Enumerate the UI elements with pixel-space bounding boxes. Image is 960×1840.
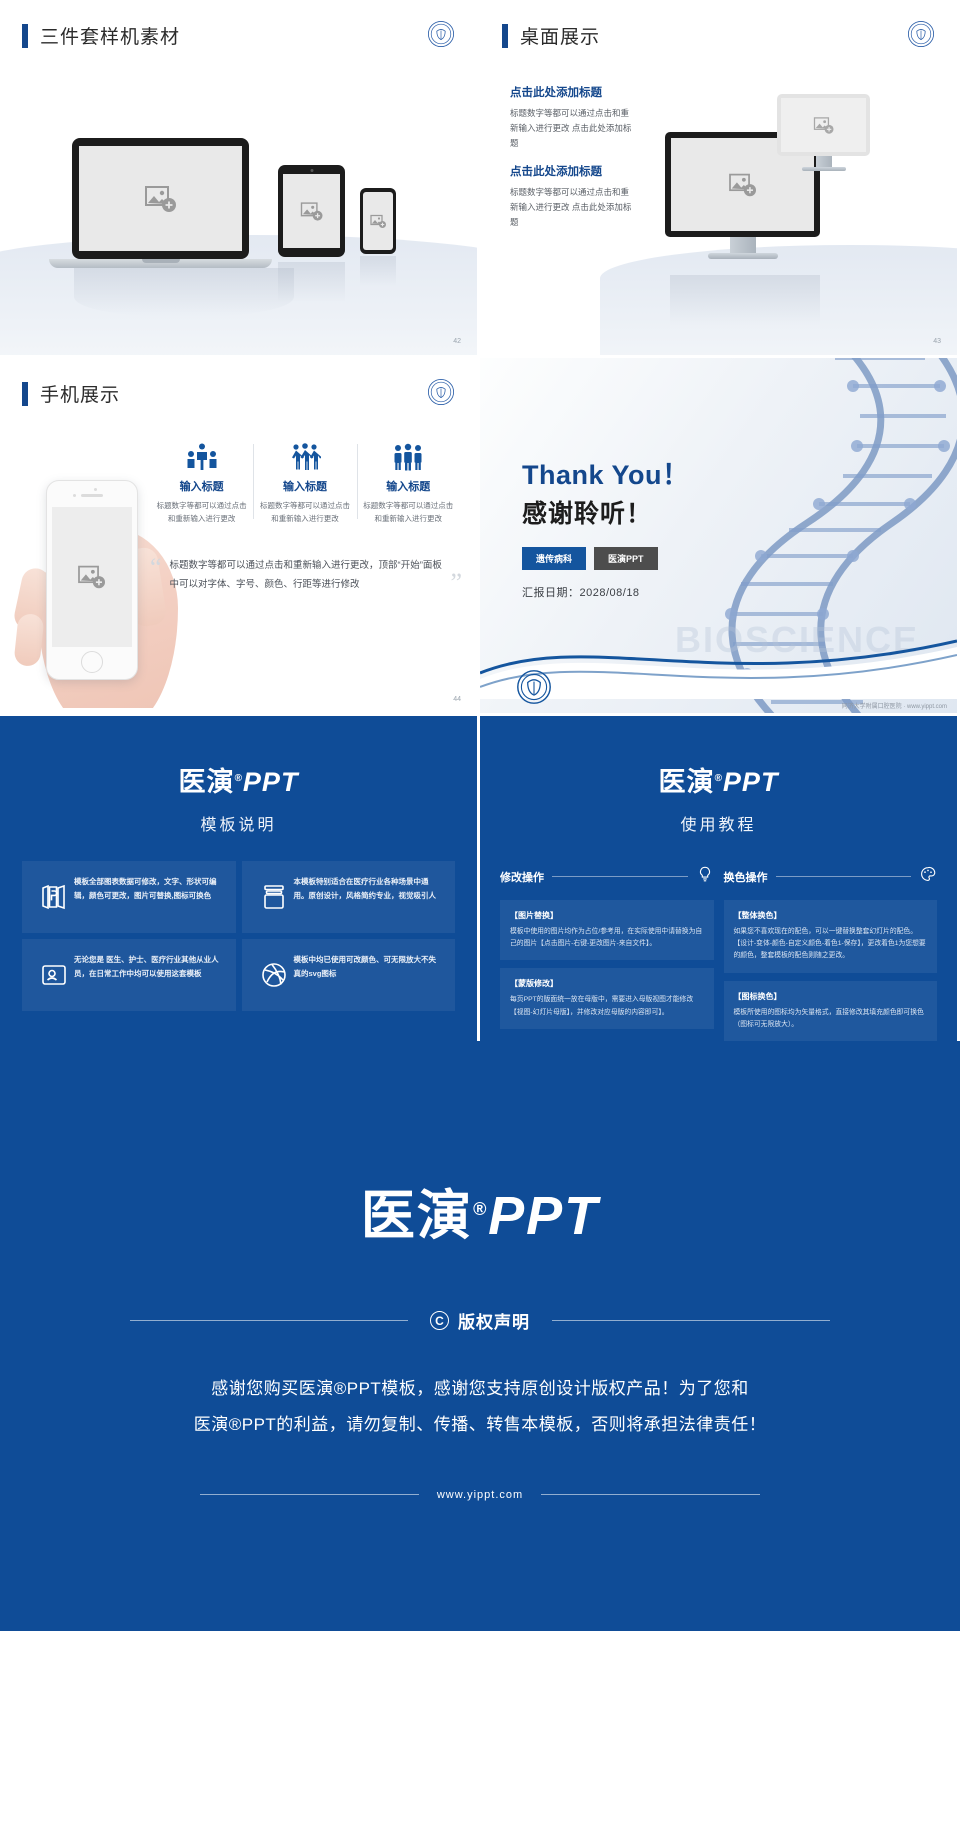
- phone-screen-placeholder: [363, 192, 393, 250]
- copyright-badge: C 版权声明: [430, 1308, 530, 1333]
- home-button: [81, 651, 103, 673]
- quote-close-icon: ”: [450, 571, 462, 594]
- divider: [776, 876, 912, 877]
- palette-icon: [919, 865, 937, 888]
- box-icon: [254, 875, 294, 919]
- feature-item[interactable]: 输入标题 标题数字等都可以通过点击和重新输入进行更改: [357, 438, 460, 525]
- logo-english: PPT: [488, 1186, 599, 1246]
- copyright-line-2: 医演®PPT的利益，请勿复制、传播、转售本模板，否则将承担法律责任！: [110, 1407, 850, 1443]
- tutorial-box-body: 模板中使用的图片均作为占位/参考用，在实际使用中请替换为自己的图片【点击图片-右…: [510, 926, 704, 950]
- title-accent-bar: [502, 24, 508, 48]
- front-camera-icon: [73, 494, 76, 497]
- feature-card[interactable]: 模板全部图表数据可修改，文字、形状可编辑，颜色可更改，图片可替换,图标可换色: [22, 861, 236, 933]
- tutorial-columns: 修改操作 【图片替换】 模板中使用的图片均作为占位/参考用，在实际使用中请替换为…: [480, 835, 957, 1049]
- laptop-mockup: [72, 138, 272, 268]
- department-tag[interactable]: 遗传病科: [522, 547, 586, 570]
- feature-card[interactable]: 无论您是 医生、护士、医疗行业其他从业人员，在日常工作中均可以使用这套模板: [22, 939, 236, 1011]
- laptop-screen-placeholder: [79, 146, 242, 251]
- copyright-badge-row: C 版权声明: [130, 1308, 830, 1333]
- divider-left: [200, 1494, 419, 1495]
- monitor-foot: [708, 253, 778, 259]
- quote-block: “ 标题数字等都可以通过点击和重新输入进行更改，顶部“开始”面板中可以对字体、字…: [150, 556, 462, 594]
- tag-row: 遗传病科 医演PPT: [522, 547, 690, 570]
- laptop-base: [49, 259, 272, 268]
- slide-header: 桌面展示: [502, 22, 600, 49]
- feature-body: 标题数字等都可以通过点击和重新输入进行更改: [156, 499, 247, 525]
- page-title: 手机展示: [40, 380, 120, 407]
- tutorial-box-body: 模板所使用的图标均为矢量格式，直接修改其填充颜色即可换色（图标可无限放大）。: [734, 1007, 928, 1031]
- slide-thank-you[interactable]: BIOSCIENCE Thank You！ 感谢聆听！ 遗传病科 医演PPT 汇…: [480, 358, 957, 713]
- block-heading: 点击此处添加标题: [510, 163, 635, 179]
- page-title: 桌面展示: [520, 22, 600, 49]
- report-date: 汇报日期：2028/08/18: [522, 584, 690, 600]
- copyright-body: 感谢您购买医演®PPT模板，感谢您支持原创设计版权产品！为了您和 医演®PPT的…: [110, 1371, 850, 1442]
- title-accent-bar: [22, 24, 28, 48]
- iphone-mockup: [46, 480, 138, 680]
- slide-number: 44: [453, 696, 461, 703]
- panel-usage-tutorial[interactable]: 医演®PPT 使用教程 修改操作: [480, 716, 957, 1041]
- people-group-icon: [259, 438, 350, 472]
- finger-2: [13, 613, 44, 667]
- block-body: 标题数字等都可以通过点击和重新输入进行更改 点击此处添加标题: [510, 106, 635, 151]
- copyright-badge-label: 版权声明: [458, 1308, 530, 1333]
- dribbble-icon: [254, 953, 294, 997]
- monitor-neck: [816, 156, 832, 167]
- logo-chinese: 医演: [659, 767, 715, 797]
- tutorial-box-heading: 【图片替换】: [510, 910, 704, 921]
- ppt-preview-page: 三件套样机素材: [0, 0, 960, 1631]
- blue-panel-row: 医演®PPT 模板说明 模板全部图表数据可修改，文字、形状可编辑，颜色可更改，图…: [0, 716, 960, 1041]
- team-meeting-icon: [156, 438, 247, 472]
- school-seal-icon: [427, 378, 455, 406]
- tablet-screen-placeholder: [283, 174, 340, 248]
- panel-subtitle: 模板说明: [0, 811, 477, 835]
- block-heading: 点击此处添加标题: [510, 84, 635, 100]
- school-seal-icon: [907, 20, 935, 48]
- divider-left: [130, 1320, 408, 1321]
- brand-logo: 医演®PPT: [0, 716, 477, 799]
- feature-row: 输入标题 标题数字等都可以通过点击和重新输入进行更改: [150, 438, 460, 525]
- school-seal-icon: [427, 20, 455, 48]
- logo-chinese: 医演: [179, 767, 235, 797]
- brand-logo-large: 医演®PPT: [361, 1171, 599, 1250]
- slide-header: 手机展示: [22, 380, 120, 407]
- slide-three-device-mockup[interactable]: 三件套样机素材: [0, 0, 477, 355]
- tutorial-box-body: 如果您不喜欢现在的配色，可以一键替换整套幻灯片的配色。【设计-变体-颜色-自定义…: [734, 926, 928, 963]
- feature-card-text: 模板全部图表数据可修改，文字、形状可编辑，颜色可更改，图片可替换,图标可换色: [74, 875, 224, 919]
- tutorial-box-heading: 【图标换色】: [734, 991, 928, 1002]
- tutorial-box-heading: 【整体换色】: [734, 910, 928, 921]
- divider-right: [552, 1320, 830, 1321]
- lightbulb-icon: [696, 865, 714, 888]
- tutorial-box-heading: 【蒙版修改】: [510, 978, 704, 989]
- tutorial-column-title: 修改操作: [500, 869, 544, 885]
- monitor-panel: [777, 94, 870, 156]
- layers-edit-icon: [34, 875, 74, 919]
- panel-template-description[interactable]: 医演®PPT 模板说明 模板全部图表数据可修改，文字、形状可编辑，颜色可更改，图…: [0, 716, 477, 1041]
- desktop-text-block-1: 点击此处添加标题 标题数字等都可以通过点击和重新输入进行更改 点击此处添加标题: [510, 84, 635, 151]
- slide-number: 43: [933, 338, 941, 345]
- monitor-foot: [802, 167, 846, 171]
- feature-body: 标题数字等都可以通过点击和重新输入进行更改: [259, 499, 350, 525]
- three-people-icon: [363, 438, 454, 472]
- thankyou-background: BIOSCIENCE Thank You！ 感谢聆听！ 遗传病科 医演PPT 汇…: [480, 358, 957, 713]
- brand-tag[interactable]: 医演PPT: [594, 547, 658, 570]
- desktop-text-block-2: 点击此处添加标题 标题数字等都可以通过点击和重新输入进行更改 点击此处添加标题: [510, 163, 635, 230]
- feature-card[interactable]: 模板中均已使用可改颜色、可无限放大不失真的svg图标: [242, 939, 456, 1011]
- school-seal-icon: [516, 669, 552, 705]
- copyright-icon: C: [430, 1311, 449, 1330]
- copyright-panel: 医演®PPT C 版权声明 感谢您购买医演®PPT模板，感谢您支持原创设计版权产…: [0, 1041, 960, 1631]
- slide-grid: 三件套样机素材: [0, 0, 960, 716]
- title-accent-bar: [22, 382, 28, 406]
- monitor-screen-placeholder: [781, 98, 866, 152]
- feature-body: 标题数字等都可以通过点击和重新输入进行更改: [363, 499, 454, 525]
- panel-subtitle: 使用教程: [480, 811, 957, 835]
- feature-item[interactable]: 输入标题 标题数字等都可以通过点击和重新输入进行更改: [253, 438, 356, 525]
- add-image-icon: [300, 201, 324, 222]
- tutorial-box: 【图标换色】 模板所使用的图标均为矢量格式，直接修改其填充颜色即可换色（图标可无…: [724, 981, 938, 1041]
- quote-open-icon: “: [150, 556, 162, 594]
- feature-card[interactable]: 本模板特别适合在医疗行业各种场景中通用。原创设计，风格简约专业，视觉吸引人: [242, 861, 456, 933]
- tutorial-column-header: 修改操作: [500, 865, 714, 888]
- brand-logo: 医演®PPT: [480, 716, 957, 799]
- tablet-mockup: [278, 165, 345, 257]
- thankyou-chinese: 感谢聆听！: [522, 494, 690, 530]
- divider-right: [541, 1494, 760, 1495]
- page-title: 三件套样机素材: [40, 22, 180, 49]
- quote-text: 标题数字等都可以通过点击和重新输入进行更改，顶部“开始”面板中可以对字体、字号、…: [170, 556, 445, 594]
- phone-mockup: [360, 188, 396, 254]
- copyright-url-row: www.yippt.com: [200, 1489, 760, 1501]
- logo-registered-icon: ®: [235, 773, 243, 784]
- tutorial-box-body: 每页PPT的版面统一放在母版中，需要进入母版视图才能修改【视图-幻灯片母版】，并…: [510, 994, 704, 1018]
- add-image-icon: [813, 116, 835, 135]
- slide-mobile-display[interactable]: 手机展示: [0, 358, 477, 713]
- logo-english: PPT: [723, 767, 779, 797]
- user-card-icon: [34, 953, 74, 997]
- add-image-icon: [370, 214, 387, 229]
- feature-heading: 输入标题: [259, 478, 350, 494]
- divider: [552, 876, 688, 877]
- tutorial-box: 【蒙版修改】 每页PPT的版面统一放在母版中，需要进入母版视图才能修改【视图-幻…: [500, 968, 714, 1028]
- tutorial-column-header: 换色操作: [724, 865, 938, 888]
- tutorial-column-edit: 修改操作 【图片替换】 模板中使用的图片均作为占位/参考用，在实际使用中请替换为…: [500, 865, 714, 1049]
- monitor-reflection: [670, 275, 820, 325]
- feature-card-text: 模板中均已使用可改颜色、可无限放大不失真的svg图标: [294, 953, 444, 997]
- block-body: 标题数字等都可以通过点击和重新输入进行更改 点击此处添加标题: [510, 185, 635, 230]
- slide-number: 42: [453, 338, 461, 345]
- website-url[interactable]: www.yippt.com: [437, 1489, 523, 1501]
- sensor-icon: [94, 488, 97, 491]
- tutorial-column-color: 换色操作 【整体换色】 如果您不喜: [724, 865, 938, 1049]
- thankyou-content: Thank You！ 感谢聆听！ 遗传病科 医演PPT 汇报日期：2028/08…: [522, 453, 690, 600]
- copyright-line-1: 感谢您购买医演®PPT模板，感谢您支持原创设计版权产品！为了您和: [110, 1371, 850, 1407]
- credit-line: 同济大学附属口腔医院 · www.yippt.com: [842, 701, 947, 710]
- monitor-mockup-small: [777, 94, 870, 171]
- feature-card-text: 本模板特别适合在医疗行业各种场景中通用。原创设计，风格简约专业，视觉吸引人: [294, 875, 444, 919]
- laptop-reflection: [74, 268, 294, 316]
- slide-header: 三件套样机素材: [22, 22, 180, 49]
- feature-heading: 输入标题: [363, 478, 454, 494]
- thankyou-english: Thank You！: [522, 453, 690, 492]
- feature-card-grid: 模板全部图表数据可修改，文字、形状可编辑，颜色可更改，图片可替换,图标可换色 本…: [0, 835, 477, 1011]
- add-image-icon: [77, 564, 107, 590]
- logo-registered-icon: ®: [715, 773, 723, 784]
- slide-desktop-display[interactable]: 桌面展示 点击此处添加标题 标题数字等都可以通过点击和重新输入进行更改 点击此处…: [480, 0, 957, 355]
- feature-card-text: 无论您是 医生、护士、医疗行业其他从业人员，在日常工作中均可以使用这套模板: [74, 953, 224, 997]
- logo-english: PPT: [243, 767, 299, 797]
- iphone-screen-placeholder: [52, 507, 132, 647]
- tutorial-box: 【图片替换】 模板中使用的图片均作为占位/参考用，在实际使用中请替换为自己的图片…: [500, 900, 714, 960]
- add-image-icon: [144, 184, 178, 214]
- laptop-lid: [72, 138, 249, 259]
- add-image-icon: [728, 172, 758, 198]
- earpiece-speaker: [81, 494, 103, 497]
- phone-reflection: [360, 256, 396, 286]
- feature-heading: 输入标题: [156, 478, 247, 494]
- monitor-neck: [730, 237, 756, 253]
- tutorial-column-title: 换色操作: [724, 869, 768, 885]
- logo-chinese: 医演: [361, 1186, 473, 1246]
- tutorial-box: 【整体换色】 如果您不喜欢现在的配色，可以一键替换整套幻灯片的配色。【设计-变体…: [724, 900, 938, 973]
- tablet-reflection: [278, 262, 345, 302]
- feature-item[interactable]: 输入标题 标题数字等都可以通过点击和重新输入进行更改: [150, 438, 253, 525]
- logo-registered-icon: ®: [473, 1199, 488, 1219]
